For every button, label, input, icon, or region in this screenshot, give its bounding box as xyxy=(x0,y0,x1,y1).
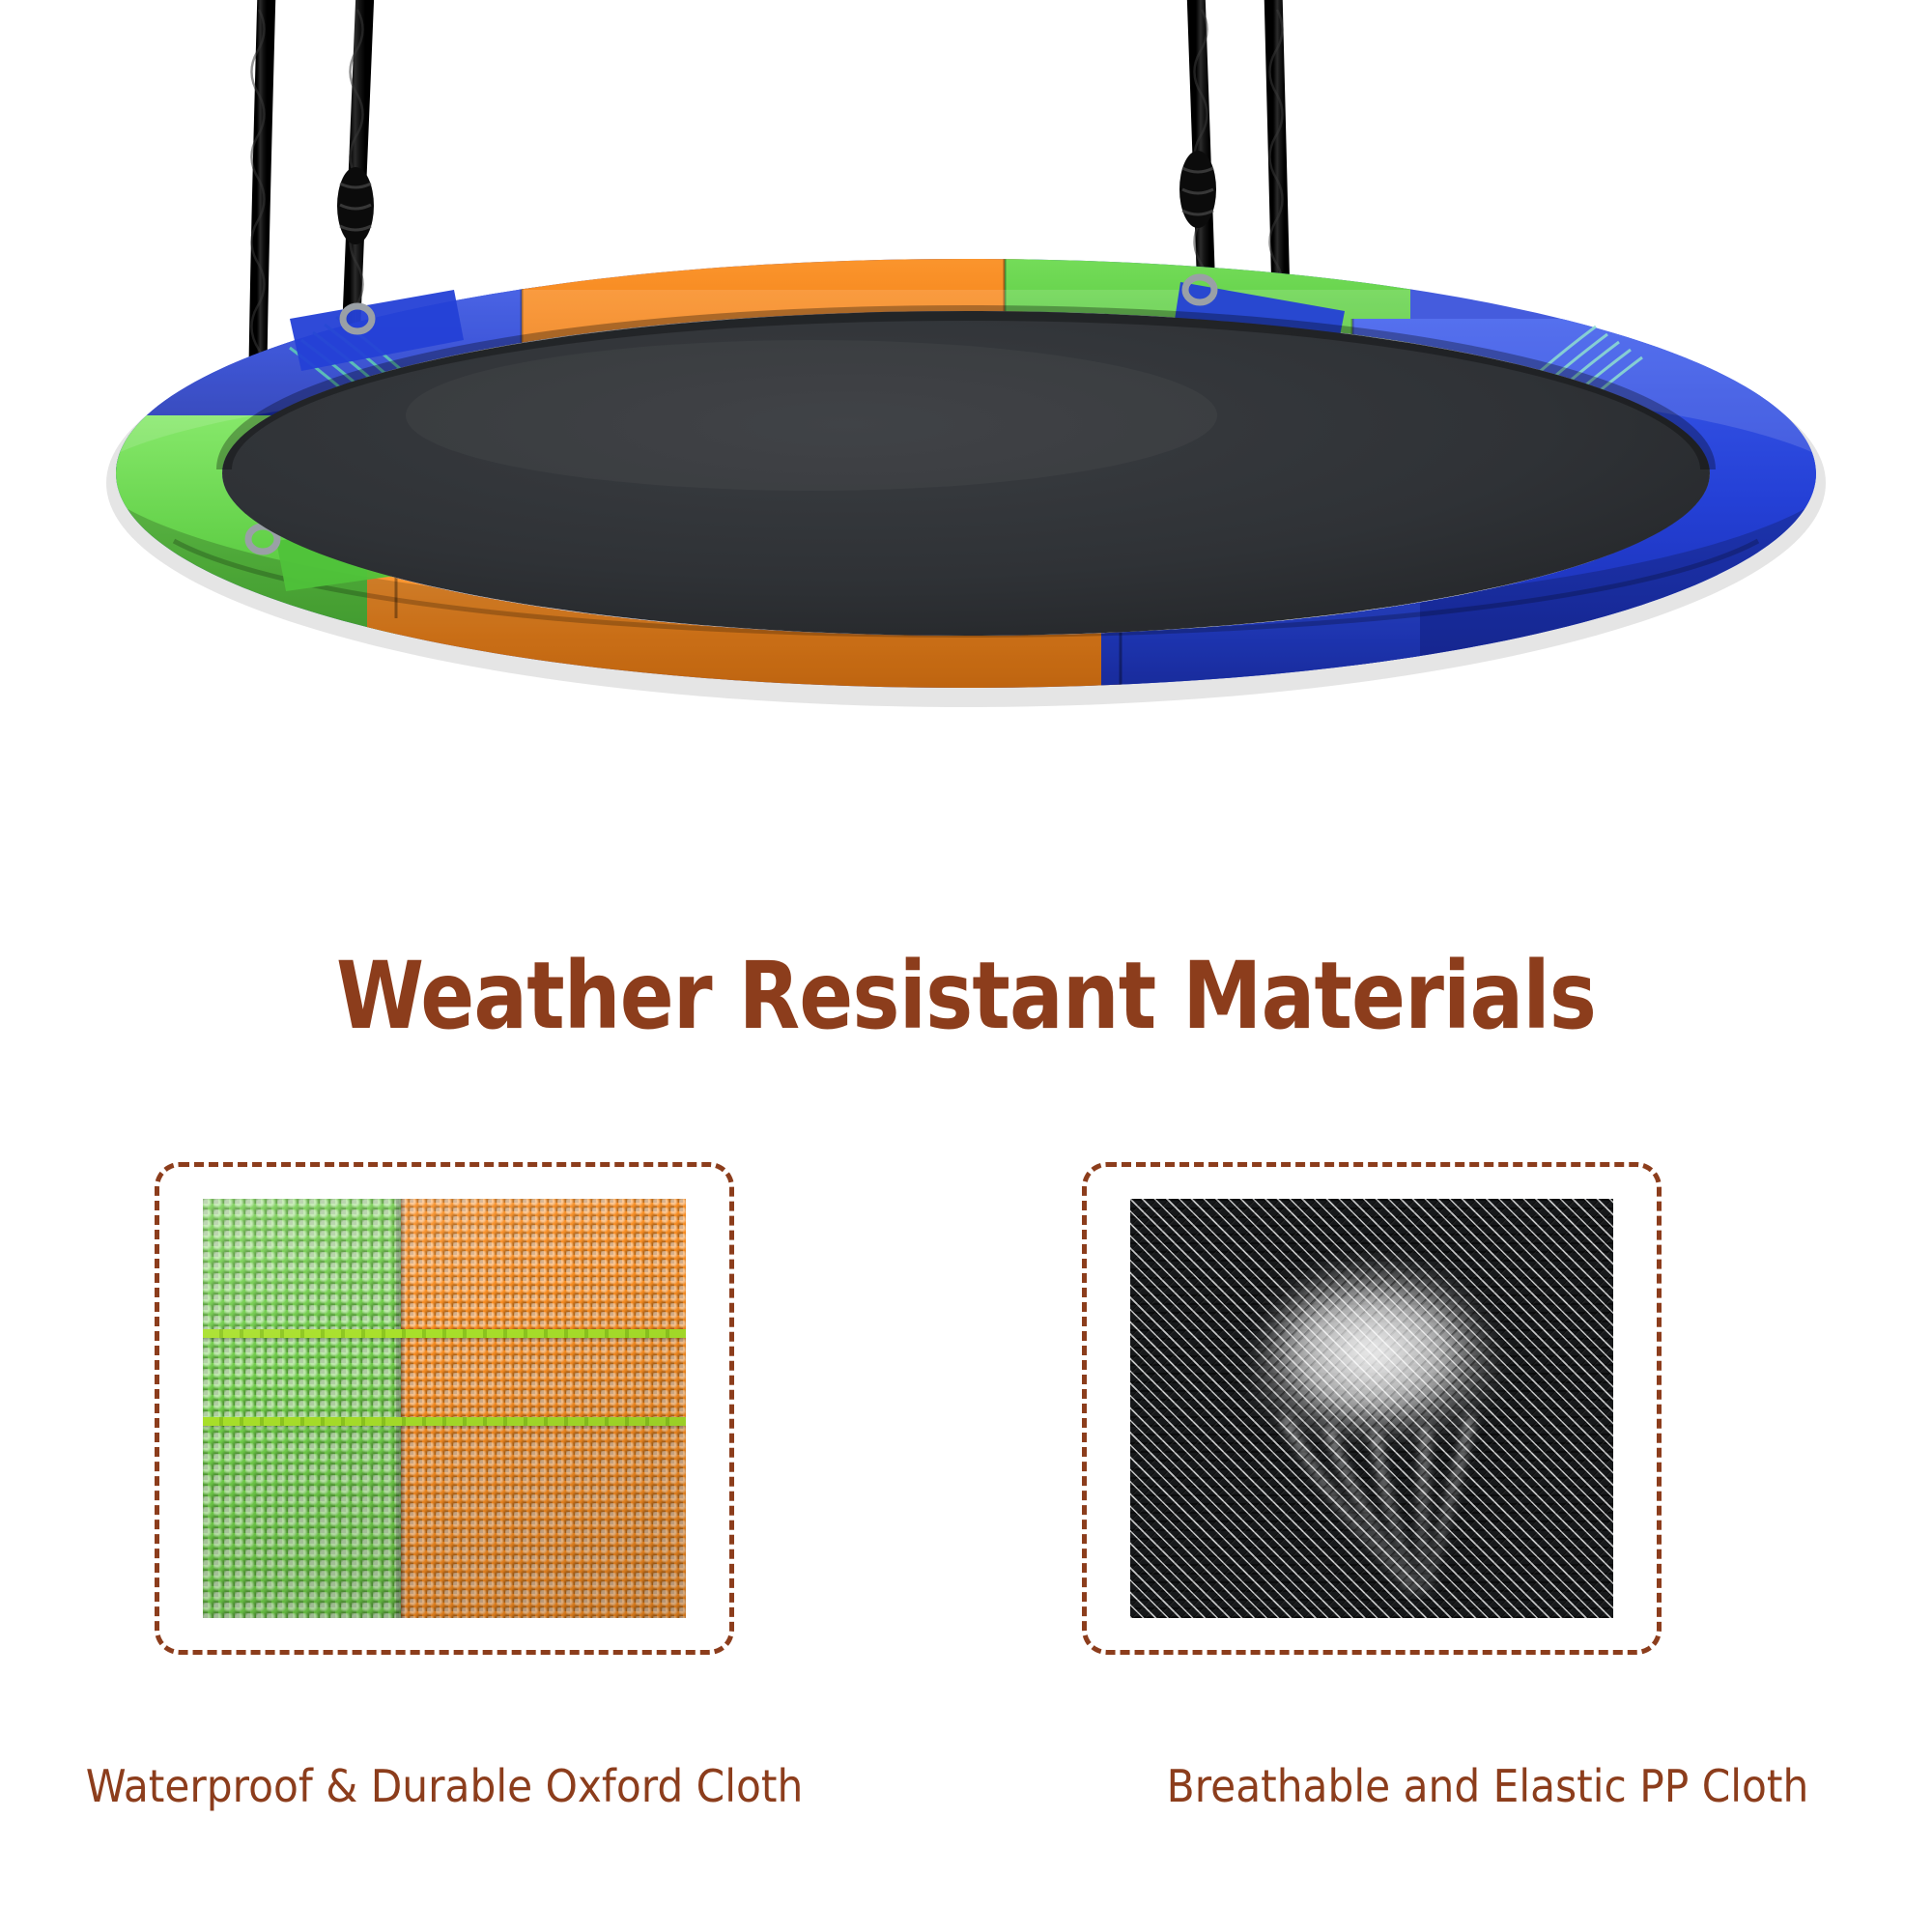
oxford-cloth-closeup-photo xyxy=(203,1199,686,1618)
page-title: Weather Resistant Materials xyxy=(135,942,1797,1050)
swing-mat-sheen xyxy=(406,340,1217,491)
caption-pp-cloth: Breathable and Elastic PP Cloth xyxy=(1088,1760,1888,1812)
cloth-orange-area xyxy=(401,1199,686,1618)
cloth-green-area xyxy=(203,1199,401,1618)
saucer-swing-illustration xyxy=(0,0,1932,927)
pp-mesh-closeup-photo xyxy=(1130,1199,1613,1618)
feature-panel-oxford-cloth xyxy=(155,1162,734,1655)
cloth-stitch-upper xyxy=(203,1329,686,1338)
cloth-swatch xyxy=(203,1199,686,1618)
cloth-stitch-lower xyxy=(203,1417,686,1426)
feature-panel-pp-cloth xyxy=(1082,1162,1662,1655)
hero-product-image xyxy=(0,0,1932,927)
caption-oxford-cloth: Waterproof & Durable Oxford Cloth xyxy=(44,1760,844,1812)
product-feature-graphic: Weather Resistant Materials xyxy=(0,0,1932,1932)
cloth-seam-line xyxy=(396,1199,406,1618)
pp-mesh-front-weave xyxy=(1130,1199,1613,1618)
